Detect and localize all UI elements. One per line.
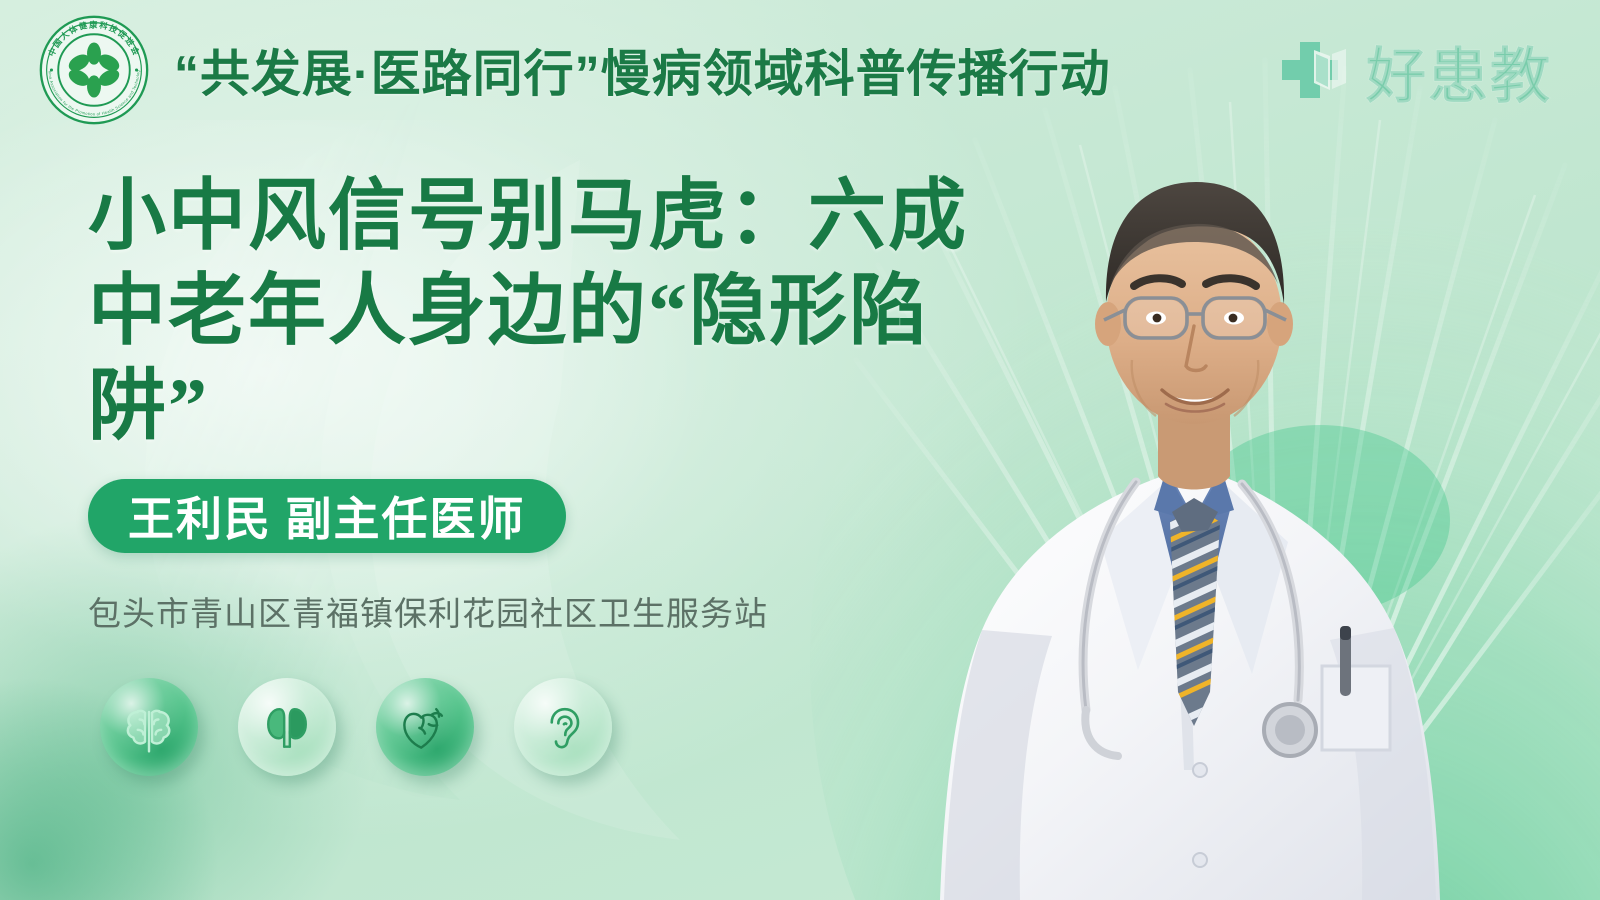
doctor-affiliation: 包头市青山区青福镇保利花园社区卫生服务站 [88,587,1008,635]
doctor-name-badge: 王利民 副主任医师 [88,479,566,553]
association-seal-icon: 中国人体健康科技促进会 China Association for the Pr… [36,12,152,128]
content-block: 小中风信号别马虎：六成中老年人身边的“隐形陷阱” 王利民 副主任医师 包头市青山… [88,168,1008,635]
poster-canvas: 中国人体健康科技促进会 China Association for the Pr… [0,0,1600,900]
brain-icon [100,678,198,776]
brand-logo: 好患教 [1274,28,1552,115]
ear-icon [514,678,612,776]
brand-name-text: 好患教 [1366,28,1552,115]
heart-icon [376,678,474,776]
article-title: 小中风信号别马虎：六成中老年人身边的“隐形陷阱” [88,168,968,453]
poster-header: 中国人体健康科技促进会 China Association for the Pr… [0,0,1600,140]
campaign-title: “共发展·医路同行”慢病领域科普传播行动 [174,34,1111,106]
cross-book-icon [1274,36,1352,108]
kidney-icon [238,678,336,776]
organ-icon-row [100,678,612,776]
